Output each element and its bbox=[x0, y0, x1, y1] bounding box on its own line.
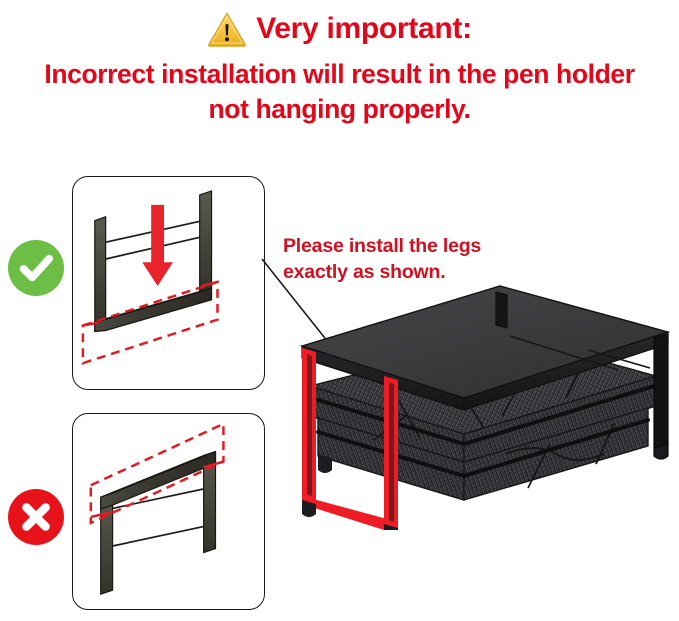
warning-triangle-icon bbox=[207, 11, 247, 47]
warning-row: Very important: bbox=[0, 6, 679, 52]
callout-line-1: Please install the legs bbox=[283, 234, 553, 260]
panel-correct-installation bbox=[72, 176, 265, 390]
x-circle-icon bbox=[8, 489, 64, 545]
red-down-arrow bbox=[142, 205, 173, 286]
header-banner: Very important: Incorrect installation w… bbox=[0, 0, 679, 140]
monitor-stand-illustration bbox=[288, 268, 679, 530]
leg-frame-right bbox=[654, 334, 668, 459]
incorrect-leg-diagram bbox=[73, 414, 264, 609]
headline: Incorrect installation will result in th… bbox=[0, 57, 679, 127]
leg-frame-rear-left bbox=[496, 292, 507, 328]
check-circle-icon bbox=[8, 240, 64, 296]
product-photo bbox=[288, 268, 679, 530]
panel-incorrect-installation bbox=[72, 413, 265, 610]
leg-bottom-bar bbox=[95, 288, 212, 332]
leg-top-bar-inverted bbox=[101, 452, 216, 509]
leg-post-right bbox=[200, 191, 212, 292]
headline-line-1: Incorrect installation will result in th… bbox=[0, 57, 679, 92]
warning-title: Very important: bbox=[256, 14, 472, 44]
leg-post-left bbox=[95, 217, 106, 332]
headline-line-2: not hanging properly. bbox=[0, 92, 679, 127]
correct-leg-diagram bbox=[73, 177, 264, 389]
